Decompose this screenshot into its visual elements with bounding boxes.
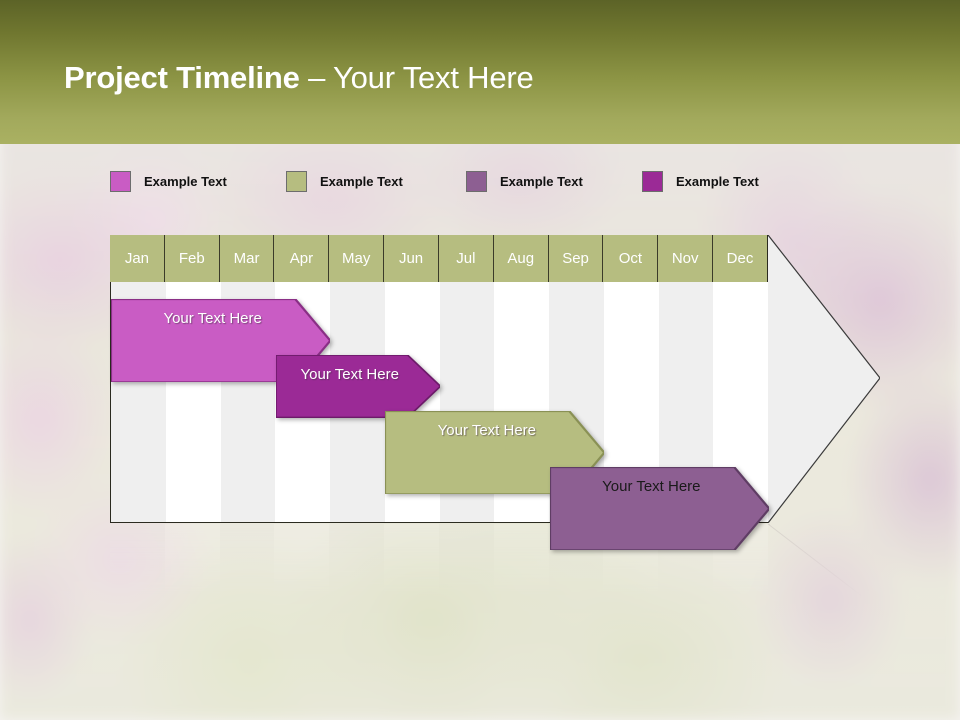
timeline-bar-3-label: Your Text Here [550,478,769,495]
month-cell-jun[interactable]: Jun [384,235,439,282]
timeline-bar-0[interactable]: Your Text Here [111,299,330,337]
legend-label-0: Example Text [144,174,227,189]
timeline-bar-1[interactable]: Your Text Here [276,355,441,393]
legend-swatch-0 [110,171,131,192]
month-cell-nov[interactable]: Nov [658,235,713,282]
page-title-strong: Project Timeline [64,60,300,95]
month-header-row: Jan Feb Mar Apr May Jun Jul Aug Sep Oct … [110,235,768,282]
timeline-bar-2-label: Your Text Here [385,422,604,439]
month-cell-mar[interactable]: Mar [220,235,275,282]
slide-header-band: Project Timeline – Your Text Here [0,0,960,144]
timeline-bar-1-shape [276,355,440,418]
timeline-bar-0-label: Your Text Here [111,310,330,327]
legend-swatch-2 [466,171,487,192]
month-cell-jan[interactable]: Jan [110,235,165,282]
month-cell-apr[interactable]: Apr [274,235,329,282]
legend-item-2[interactable]: Example Text [466,170,583,192]
timeline-plot-area: Your Text Here Your Text Here Your Text … [110,282,768,523]
page-title-light: – Your Text Here [300,60,534,95]
month-cell-sep[interactable]: Sep [549,235,604,282]
page-title: Project Timeline – Your Text Here [64,60,534,96]
month-cell-may[interactable]: May [329,235,384,282]
legend-item-0[interactable]: Example Text [110,170,227,192]
legend: Example Text Example Text Example Text E… [110,170,830,194]
month-cell-aug[interactable]: Aug [494,235,549,282]
timeline-bar-2[interactable]: Your Text Here [385,411,604,449]
timeline-chart: Jan Feb Mar Apr May Jun Jul Aug Sep Oct … [110,235,880,523]
timeline-bar-1-label: Your Text Here [276,366,441,383]
legend-swatch-3 [642,171,663,192]
month-cell-jul[interactable]: Jul [439,235,494,282]
legend-label-3: Example Text [676,174,759,189]
timeline-bar-3[interactable]: Your Text Here [550,467,769,505]
legend-label-1: Example Text [320,174,403,189]
bar-1-polygon [276,355,440,418]
legend-label-2: Example Text [500,174,583,189]
month-cell-oct[interactable]: Oct [603,235,658,282]
month-cell-dec[interactable]: Dec [713,235,768,282]
legend-item-1[interactable]: Example Text [286,170,403,192]
legend-item-3[interactable]: Example Text [642,170,759,192]
month-cell-feb[interactable]: Feb [165,235,220,282]
legend-swatch-1 [286,171,307,192]
